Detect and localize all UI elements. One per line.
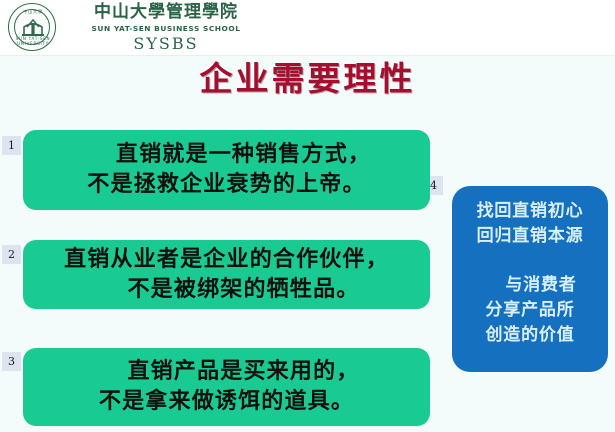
slide-canvas: 中山大學 SUN YAT-SEN UNIVERSITY 中山大學管理學院 SUN… [0, 0, 615, 432]
statement-line: 不是拯救企业衰势的上帝。 [87, 170, 365, 200]
statement-box-3: 直销产品是买来用的， 不是拿来做诱饵的道具。 [23, 348, 430, 426]
conclusion-panel: 找回直销初心 回归直销本源 与消费者 分享产品所 创造的价值 [452, 186, 608, 372]
conclusion-group-1: 找回直销初心 回归直销本源 [452, 199, 608, 249]
statement-line: 不是拿来做诱饵的道具。 [99, 387, 354, 417]
statement-box-1: 直销就是一种销售方式， 不是拯救企业衰势的上帝。 [23, 130, 430, 210]
conclusion-line: 创造的价值 [452, 323, 608, 348]
conclusion-group-2: 与消费者 分享产品所 创造的价值 [452, 273, 608, 348]
brand-abbreviation: SYSBS [66, 34, 266, 53]
brand-block: 中山大學管理學院 SUN YAT-SEN BUSINESS SCHOOL SYS… [66, 2, 266, 53]
seal-gate-icon [20, 17, 46, 38]
conclusion-line: 回归直销本源 [452, 224, 608, 249]
statement-box-2: 直销从业者是企业的合作伙伴， 不是被绑架的牺牲品。 [23, 240, 430, 309]
seal-ring-text-top: 中山大學 [9, 9, 57, 15]
page-title: 企业需要理性 [0, 56, 615, 102]
conclusion-line: 分享产品所 [452, 298, 608, 323]
statement-line: 不是被绑架的牺牲品。 [93, 275, 359, 305]
sequence-badge-1[interactable]: 1 [2, 136, 21, 155]
sequence-badge-3[interactable]: 3 [2, 352, 21, 371]
conclusion-line: 与消费者 [452, 273, 608, 298]
statement-line: 直销从业者是企业的合作伙伴， [64, 245, 389, 275]
conclusion-line: 找回直销初心 [452, 199, 608, 224]
slide-header: 中山大學 SUN YAT-SEN UNIVERSITY 中山大學管理學院 SUN… [0, 0, 615, 56]
university-seal-icon: 中山大學 SUN YAT-SEN UNIVERSITY [8, 3, 56, 51]
statement-line: 直销就是一种销售方式， [82, 140, 371, 170]
sequence-badge-2[interactable]: 2 [2, 245, 21, 264]
brand-name-chinese: 中山大學管理學院 [66, 2, 266, 23]
brand-name-english: SUN YAT-SEN BUSINESS SCHOOL [66, 23, 266, 34]
statement-line: 直销产品是买来用的， [93, 357, 359, 387]
